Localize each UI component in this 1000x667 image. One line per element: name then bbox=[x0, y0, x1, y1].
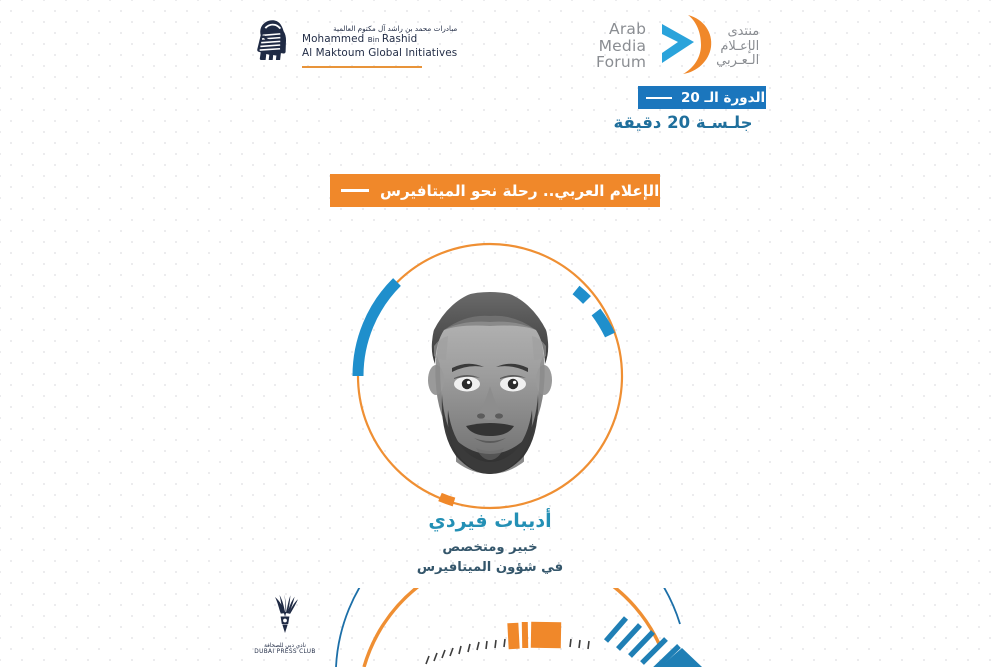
arab-media-forum-logo: Arab Media Forum منتدى الإعـلام الـعـربي bbox=[596, 12, 759, 82]
amf-logo-english: Arab Media Forum bbox=[596, 21, 646, 73]
dubai-press-club-logo: نادي دبي للصحافة DUBAI PRESS CLUB bbox=[244, 594, 326, 655]
orange-arc-segment-bottom bbox=[440, 497, 454, 502]
session-poster: مبادرات محمد بن راشد آل مكتوم العالمية M… bbox=[0, 0, 1000, 667]
mbr-logo-english-line2: Al Maktoum Global Initiatives bbox=[302, 47, 457, 60]
edition-badge-label: الدورة الـ 20 bbox=[681, 90, 765, 106]
speaker-portrait bbox=[348, 234, 632, 518]
mbr-logo-english-line1: Mohammed Bin Rashid bbox=[302, 33, 457, 46]
dpc-logo-english: DUBAI PRESS CLUB bbox=[244, 649, 326, 655]
blue-arc-left bbox=[358, 282, 397, 376]
mbr-logo-arabic: مبادرات محمد بن راشد آل مكتوم العالمية bbox=[302, 24, 457, 33]
crescent-swoosh-icon bbox=[648, 12, 714, 82]
session-title-banner: الإعلام العربي.. رحلة نحو الميتافيرس bbox=[330, 174, 660, 207]
edition-badge-dash bbox=[646, 97, 672, 99]
amf-logo-arabic-line3: الـعـربي bbox=[716, 54, 759, 69]
speaker-role-line2: في شؤون الميتافيرس bbox=[350, 558, 630, 578]
mbr-global-initiatives-logo: مبادرات محمد بن راشد آل مكتوم العالمية M… bbox=[252, 18, 457, 68]
dial-orange-blocks bbox=[507, 622, 561, 650]
amf-logo-arabic-line2: الإعـلام bbox=[716, 40, 759, 55]
amf-logo-english-line3: Forum bbox=[596, 54, 646, 71]
speaker-photo bbox=[408, 282, 572, 496]
mbr-portrait-icon bbox=[252, 18, 292, 66]
mbr-logo-underline bbox=[302, 66, 422, 69]
edition-badge: الدورة الـ 20 bbox=[638, 86, 766, 109]
speaker-role: خبير ومتخصص في شؤون الميتافيرس bbox=[350, 538, 630, 579]
session-title-text: الإعلام العربي.. رحلة نحو الميتافيرس bbox=[380, 182, 659, 200]
speaker-role-line1: خبير ومتخصص bbox=[350, 538, 630, 558]
amf-logo-english-line2: Media bbox=[596, 38, 646, 55]
amf-logo-arabic-line1: منتدى bbox=[716, 25, 759, 40]
decorative-dial-arcs bbox=[330, 588, 750, 667]
amf-logo-arabic: منتدى الإعـلام الـعـربي bbox=[716, 25, 759, 69]
dial-blue-dashes bbox=[606, 618, 679, 667]
amf-logo-english-line1: Arab bbox=[596, 21, 646, 38]
speaker-name: أديبات فيردي bbox=[350, 510, 630, 532]
session-title-dash bbox=[341, 189, 369, 191]
session-duration-label: جلـسـة 20 دقيقة bbox=[600, 113, 766, 132]
feather-pen-nib-icon bbox=[244, 594, 326, 640]
dial-tick-marks bbox=[426, 638, 589, 664]
